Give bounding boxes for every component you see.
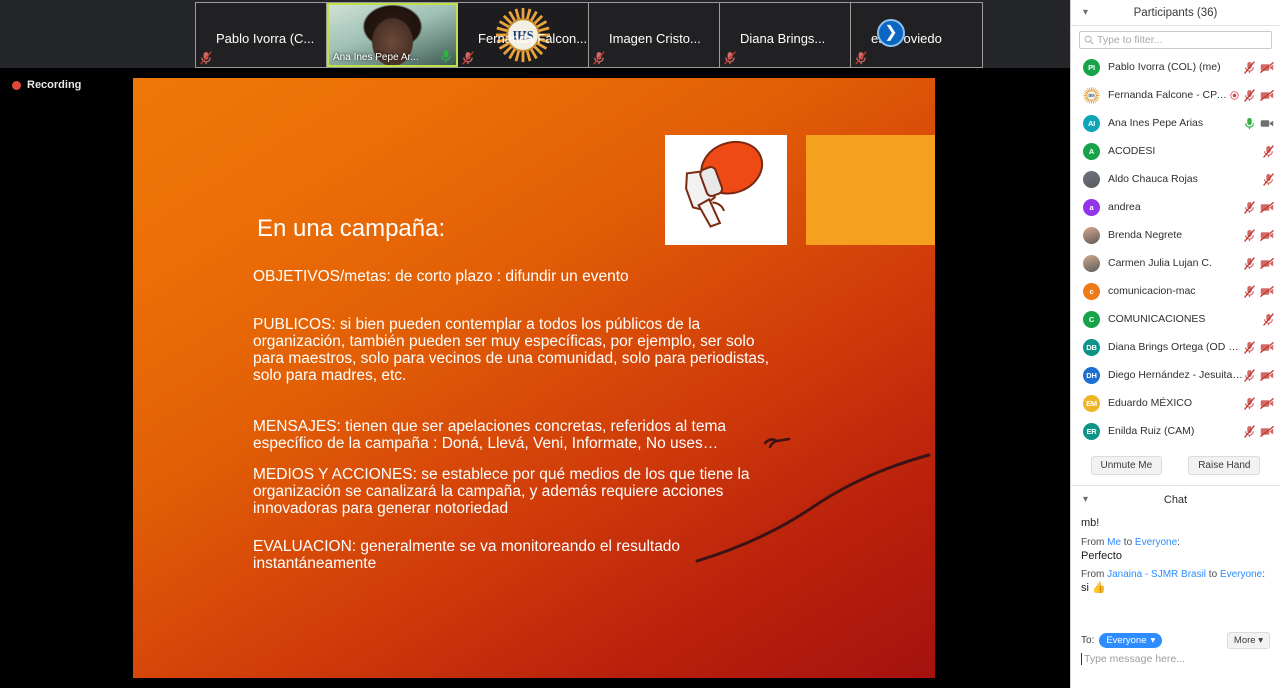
participant-status-icons	[1244, 425, 1274, 438]
chat-title: Chat	[1164, 494, 1187, 506]
video-muted-icon	[1260, 426, 1274, 437]
participants-list[interactable]: PIPablo Ivorra (COL) (me)IHSFernanda Fal…	[1071, 53, 1280, 448]
participant-row[interactable]: AACODESI	[1071, 137, 1280, 165]
tile-participant-name: Pablo Ivorra (C...	[216, 31, 314, 46]
participant-name: Enilda Ruiz (CAM)	[1108, 425, 1244, 437]
tile-participant-name: Diana Brings...	[740, 31, 825, 46]
raise-hand-button[interactable]: Raise Hand	[1188, 456, 1260, 475]
mic-muted-icon	[1244, 369, 1255, 382]
megaphone-image	[665, 135, 787, 245]
participant-status-icons	[1263, 145, 1274, 158]
chat-message-sender: From Me to Everyone:	[1081, 536, 1270, 549]
video-muted-icon	[1260, 258, 1274, 269]
participant-status-icons	[1244, 117, 1274, 130]
chat-header: ▾ Chat	[1071, 486, 1280, 514]
participant-status-icons	[1230, 89, 1274, 102]
participant-row[interactable]: EREnilda Ruiz (CAM)	[1071, 417, 1280, 445]
to-label: To:	[1081, 635, 1094, 646]
zoom-meeting-window: Pablo Ivorra (C...Ana Ines Pepe Ar...IHS…	[0, 0, 1280, 688]
participant-status-icons	[1244, 229, 1274, 242]
mic-muted-icon	[1244, 229, 1255, 242]
participant-status-icons	[1244, 369, 1274, 382]
avatar: C	[1083, 311, 1100, 328]
search-input[interactable]	[1097, 34, 1257, 46]
participant-row[interactable]: ccomunicacion-mac	[1071, 277, 1280, 305]
recording-dot-icon	[1230, 91, 1239, 100]
mic-muted-icon	[1244, 89, 1255, 102]
participant-row[interactable]: DHDiego Hernández - Jesuitas...	[1071, 361, 1280, 389]
filmstrip-tile[interactable]: IHSFernanda Falcon...	[458, 3, 589, 67]
participants-header: ▾ Participants (36)	[1071, 0, 1280, 26]
more-label: More	[1234, 635, 1256, 646]
video-muted-icon	[1260, 398, 1274, 409]
megaphone-icon	[665, 135, 787, 245]
chat-message-input[interactable]	[1081, 653, 1266, 665]
participant-status-icons	[1244, 257, 1274, 270]
chat-message: From Janaina - SJMR Brasil to Everyone:s…	[1081, 568, 1270, 595]
slide-objetivos: OBJETIVOS/metas: de corto plazo : difund…	[253, 268, 773, 285]
participant-row[interactable]: Carmen Julia Lujan C.	[1071, 249, 1280, 277]
participant-row[interactable]: aandrea	[1071, 193, 1280, 221]
recording-label: Recording	[27, 79, 81, 91]
tile-participant-name: Ana Ines Pepe Ar...	[333, 52, 419, 63]
video-muted-icon	[1260, 230, 1274, 241]
participant-name: Eduardo MÉXICO	[1108, 397, 1244, 409]
chat-loose-text: mb!	[1081, 516, 1270, 530]
mic-on-icon	[1244, 117, 1255, 130]
avatar: DH	[1083, 367, 1100, 384]
avatar: ER	[1083, 423, 1100, 440]
participant-status-icons	[1263, 173, 1274, 186]
more-button[interactable]: More ▾	[1227, 632, 1270, 649]
slide-publicos: PUBLICOS: si bien pueden contemplar a to…	[253, 316, 773, 384]
avatar: AI	[1083, 115, 1100, 132]
filmstrip-tile[interactable]: Ana Ines Pepe Ar...	[327, 3, 458, 67]
tile-participant-name: Fernanda Falcon...	[478, 31, 587, 46]
participant-name: Aldo Chauca Rojas	[1108, 173, 1263, 185]
video-muted-icon	[1260, 286, 1274, 297]
avatar: PI	[1083, 59, 1100, 76]
recording-indicator: Recording	[12, 79, 81, 91]
avatar	[1083, 171, 1100, 188]
video-muted-icon	[1260, 202, 1274, 213]
chat-message: From Me to Everyone:Perfecto	[1081, 536, 1270, 563]
mic-muted-icon	[1244, 201, 1255, 214]
participants-filter[interactable]	[1079, 31, 1272, 49]
participant-status-icons	[1244, 341, 1274, 354]
svg-text:IHS: IHS	[1088, 93, 1094, 97]
video-filmstrip: Pablo Ivorra (C...Ana Ines Pepe Ar...IHS…	[0, 0, 1070, 68]
mic-muted-icon	[724, 51, 736, 65]
chat-recipient-row: To: Everyone ▾ More ▾	[1071, 629, 1280, 651]
participant-row[interactable]: EMEduardo MÉXICO	[1071, 389, 1280, 417]
participant-name: Carmen Julia Lujan C.	[1108, 257, 1244, 269]
avatar: EM	[1083, 395, 1100, 412]
avatar: a	[1083, 199, 1100, 216]
accent-rectangle	[806, 135, 935, 245]
side-panel: ▾ Participants (36) PIPablo Ivorra (COL)…	[1070, 0, 1280, 688]
video-muted-icon	[1260, 62, 1274, 73]
mic-muted-icon	[1263, 173, 1274, 186]
mic-muted-icon	[200, 51, 212, 65]
mic-muted-icon	[1244, 397, 1255, 410]
chat-messages: mb! From Me to Everyone:PerfectoFrom Jan…	[1071, 514, 1280, 629]
chat-message-text: Perfecto	[1081, 549, 1270, 563]
mic-muted-icon	[1244, 285, 1255, 298]
tile-participant-name: Imagen Cristo...	[609, 31, 701, 46]
recipient-value: Everyone	[1106, 635, 1146, 646]
participant-row[interactable]: PIPablo Ivorra (COL) (me)	[1071, 53, 1280, 81]
chevron-right-icon[interactable]: ❯	[877, 19, 905, 47]
chat-message-sender: From Janaina - SJMR Brasil to Everyone:	[1081, 568, 1270, 581]
participant-actions: Unmute Me Raise Hand	[1071, 448, 1280, 486]
avatar: c	[1083, 283, 1100, 300]
slide-title: En una campaña:	[257, 215, 445, 243]
participant-name: COMUNICACIONES	[1108, 313, 1263, 325]
participant-status-icons	[1244, 61, 1274, 74]
participant-name: andrea	[1108, 201, 1244, 213]
mic-muted-icon	[1263, 313, 1274, 326]
participants-title: Participants (36)	[1134, 7, 1218, 19]
participant-row[interactable]: Aldo Chauca Rojas	[1071, 165, 1280, 193]
participant-name: Brenda Negrete	[1108, 229, 1244, 241]
mic-muted-icon	[1244, 61, 1255, 74]
chevron-down-icon: ▾	[1258, 635, 1263, 646]
video-muted-icon	[1260, 342, 1274, 353]
participant-name: Fernanda Falcone - CPAL...	[1108, 89, 1230, 101]
filmstrip-tile[interactable]: Diana Brings...	[720, 3, 851, 67]
recipient-dropdown[interactable]: Everyone ▾	[1099, 633, 1162, 648]
avatar	[1083, 227, 1100, 244]
participant-row[interactable]: DBDiana Brings Ortega (OD perú)	[1071, 333, 1280, 361]
mic-muted-icon	[1263, 145, 1274, 158]
participant-status-icons	[1263, 313, 1274, 326]
chevron-down-icon[interactable]: ▾	[1083, 494, 1088, 505]
filmstrip-tile[interactable]: Imagen Cristo...	[589, 3, 720, 67]
video-muted-icon	[1260, 90, 1274, 101]
chat-input-container	[1071, 651, 1280, 665]
unmute-me-button[interactable]: Unmute Me	[1091, 456, 1163, 475]
shared-screen-slide: En una campaña: OBJETIVOS/metas: de cort…	[133, 78, 935, 678]
avatar	[1083, 255, 1100, 272]
chevron-down-icon[interactable]: ▾	[1083, 7, 1088, 18]
participant-row[interactable]: Brenda Negrete	[1071, 221, 1280, 249]
avatar: A	[1083, 143, 1100, 160]
ihs-sun-emblem-icon: IHS	[1083, 87, 1100, 104]
participant-name: Diana Brings Ortega (OD perú)	[1108, 341, 1244, 353]
mic-on-icon	[440, 49, 452, 63]
participant-name: Diego Hernández - Jesuitas...	[1108, 369, 1244, 381]
participant-row[interactable]: AIAna Ines Pepe Arias	[1071, 109, 1280, 137]
video-muted-icon	[1260, 370, 1274, 381]
mic-muted-icon	[855, 51, 867, 65]
participant-name: Pablo Ivorra (COL) (me)	[1108, 61, 1244, 73]
mic-muted-icon	[593, 51, 605, 65]
annotation-drawing	[693, 433, 933, 573]
chevron-down-icon: ▾	[1150, 635, 1155, 646]
participant-status-icons	[1244, 285, 1274, 298]
record-dot-icon	[12, 81, 21, 90]
participant-name: Ana Ines Pepe Arias	[1108, 117, 1244, 129]
chat-message-text: si 👍	[1081, 581, 1270, 595]
avatar: DB	[1083, 339, 1100, 356]
search-icon	[1084, 35, 1094, 45]
mic-muted-icon	[1244, 425, 1255, 438]
filter-container	[1071, 26, 1280, 53]
mic-muted-icon	[462, 51, 474, 65]
participant-name: ACODESI	[1108, 145, 1263, 157]
participant-row[interactable]: IHSFernanda Falcone - CPAL...	[1071, 81, 1280, 109]
mic-muted-icon	[1244, 257, 1255, 270]
filmstrip-tile[interactable]: ester oviedo	[851, 3, 982, 67]
participant-row[interactable]: CCOMUNICACIONES	[1071, 305, 1280, 333]
mic-muted-icon	[1244, 341, 1255, 354]
filmstrip-tile[interactable]: Pablo Ivorra (C...	[196, 3, 327, 67]
participant-status-icons	[1244, 201, 1274, 214]
filmstrip-tiles: Pablo Ivorra (C...Ana Ines Pepe Ar...IHS…	[195, 2, 983, 68]
avatar: IHS	[1083, 87, 1100, 104]
participant-name: comunicacion-mac	[1108, 285, 1244, 297]
video-on-icon	[1260, 118, 1274, 129]
participant-status-icons	[1244, 397, 1274, 410]
meeting-stage: Pablo Ivorra (C...Ana Ines Pepe Ar...IHS…	[0, 0, 1070, 688]
